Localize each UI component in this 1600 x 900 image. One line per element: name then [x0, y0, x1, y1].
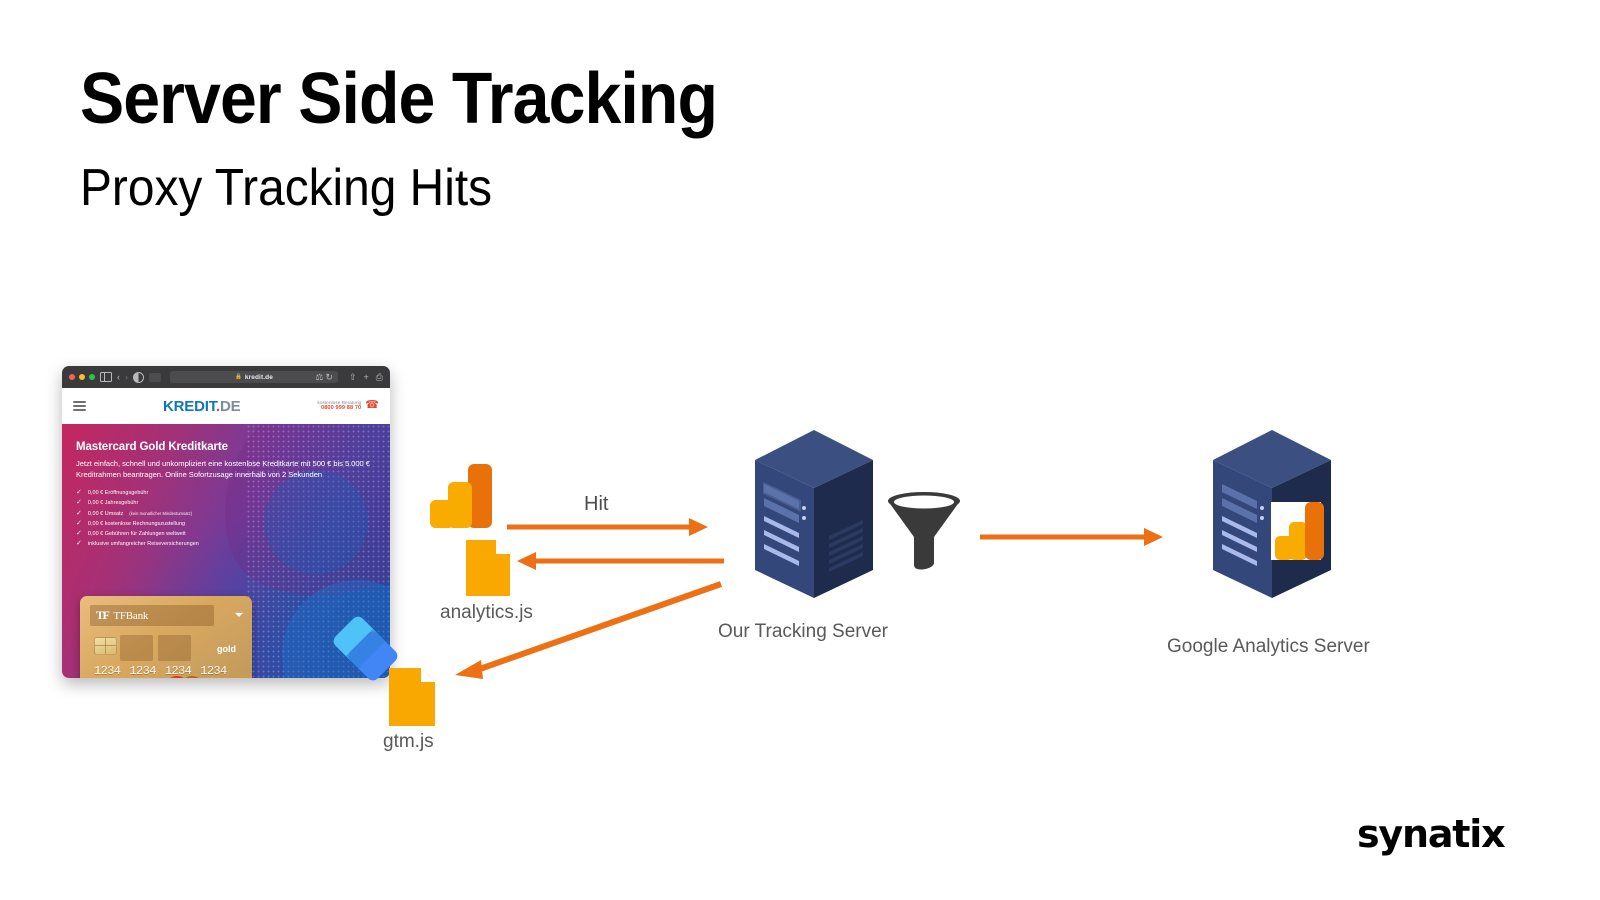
- address-bar[interactable]: 🔒 kredit.de ⚖ ↻: [170, 371, 338, 383]
- shield-icon[interactable]: [149, 373, 161, 382]
- forward-icon[interactable]: ›: [125, 373, 128, 382]
- header-contact[interactable]: kostenlose Beratung 0800 999 88 70 ☎: [317, 400, 379, 412]
- minimize-icon[interactable]: [79, 374, 85, 380]
- list-item-sublabel: (kein monatlicher Mindestumsatz): [129, 511, 192, 516]
- card-number: 1234 1234 1234 1234: [94, 664, 227, 678]
- share-icon[interactable]: ⇧: [349, 373, 357, 382]
- list-item: ✓ 0,00 € Gebühren für Zahlungen weltweit: [76, 530, 376, 537]
- url-text: kredit.de: [245, 374, 273, 381]
- card-number-group: 1234: [200, 664, 226, 678]
- list-item-label: 0,00 € kostenlose Rechnungszustellung: [88, 521, 185, 527]
- address-bar-actions[interactable]: ⚖ ↻: [315, 373, 333, 382]
- page-subtitle: Proxy Tracking Hits: [80, 158, 492, 218]
- window-traffic-lights[interactable]: [69, 374, 95, 380]
- sidebar-icon[interactable]: [100, 372, 112, 382]
- list-item-label: inklusive umfangreicher Reiseversicherun…: [88, 541, 199, 547]
- hamburger-icon[interactable]: [73, 401, 86, 411]
- reload-icon[interactable]: ↻: [325, 373, 333, 382]
- check-icon: ✓: [76, 520, 82, 527]
- bank-mark-icon: TF: [96, 608, 108, 623]
- card-decoration-block: [120, 635, 153, 661]
- site-logo-primary: KREDIT: [163, 398, 216, 415]
- server-icon: [751, 424, 877, 614]
- new-tab-icon[interactable]: +: [364, 373, 369, 382]
- chrome-right-actions[interactable]: ⇧ + ⎙: [347, 373, 383, 382]
- google-tag-manager-logo: [325, 608, 421, 704]
- phone-icon: ☎: [365, 400, 379, 411]
- contactless-icon: ⏵: [232, 612, 243, 618]
- site-logo[interactable]: KREDIT.DE: [163, 398, 240, 415]
- node-label-gtm-js: gtm.js: [383, 731, 434, 753]
- hero-content: Mastercard Gold Kreditkarte Jetzt einfac…: [62, 424, 390, 547]
- check-icon: ✓: [76, 499, 82, 506]
- card-number-group: 1234: [94, 664, 120, 678]
- hero-headline: Mastercard Gold Kreditkarte: [76, 441, 376, 453]
- tab-overview-icon[interactable]: ⎙: [376, 373, 383, 382]
- card-number-group: 1234: [129, 664, 155, 678]
- list-item: ✓ inklusive umfangreicher Reiseversicher…: [76, 540, 376, 547]
- check-icon: ✓: [76, 530, 82, 537]
- close-icon[interactable]: [69, 374, 75, 380]
- check-icon: ✓: [76, 489, 82, 496]
- card-tier-label: gold: [217, 644, 236, 654]
- extensions-icon[interactable]: ⚖: [315, 373, 323, 382]
- browser-chrome: ‹ › 🔒 kredit.de ⚖ ↻ ⇧ + ⎙: [62, 366, 390, 388]
- list-item-label: 0,00 € Eröffnungsgebühr: [88, 490, 148, 496]
- server-icon: [1209, 424, 1339, 614]
- list-item-label: 0,00 € Gebühren für Zahlungen weltweit: [88, 531, 186, 537]
- edge-label-hit: Hit: [584, 493, 608, 516]
- site-header: KREDIT.DE kostenlose Beratung 0800 999 8…: [62, 388, 390, 424]
- brand-logo: synatix: [1357, 812, 1504, 856]
- gtm-arrow: [445, 578, 725, 683]
- mastercard-icon: [164, 676, 204, 678]
- response-arrow: [508, 549, 726, 573]
- list-item: ✓ 0,00 € Umsatz (kein monatlicher Mindes…: [76, 510, 376, 517]
- check-icon: ✓: [76, 510, 82, 517]
- forward-arrow: [978, 525, 1168, 549]
- check-icon: ✓: [76, 540, 82, 547]
- lock-icon: 🔒: [235, 374, 242, 380]
- chip-icon: [94, 637, 117, 655]
- hero-paragraph: Jetzt einfach, schnell und unkompliziert…: [76, 458, 371, 480]
- list-item: ✓ 0,00 € Eröffnungsgebühr: [76, 489, 376, 496]
- list-item: ✓ 0,00 € Jahresgebühr: [76, 499, 376, 506]
- credit-card-graphic: TF TFBank ⏵ gold 1234 1234 1234 1234: [80, 596, 252, 678]
- list-item: ✓ 0,00 € kostenlose Rechnungszustellung: [76, 520, 376, 527]
- funnel-icon: [884, 487, 964, 577]
- hit-arrow: [505, 515, 715, 539]
- back-icon[interactable]: ‹: [117, 373, 120, 382]
- node-label-tracking-server: Our Tracking Server: [718, 621, 888, 643]
- page-title: Server Side Tracking: [80, 58, 717, 140]
- maximize-icon[interactable]: [89, 374, 95, 380]
- google-analytics-logo: [430, 462, 498, 532]
- contact-phone: 0800 999 88 70: [317, 405, 361, 411]
- list-item-label: 0,00 € Jahresgebühr: [88, 500, 138, 506]
- card-decoration-block: [158, 635, 191, 661]
- site-logo-suffix: DE: [220, 398, 240, 415]
- hero-benefit-list: ✓ 0,00 € Eröffnungsgebühr ✓ 0,00 € Jahre…: [76, 489, 376, 547]
- bank-name: TFBank: [113, 610, 148, 622]
- card-bank-band: TF TFBank: [90, 605, 214, 626]
- reader-mode-icon[interactable]: [133, 372, 144, 383]
- list-item-label: 0,00 € Umsatz: [88, 511, 123, 517]
- node-label-ga-server: Google Analytics Server: [1167, 636, 1370, 658]
